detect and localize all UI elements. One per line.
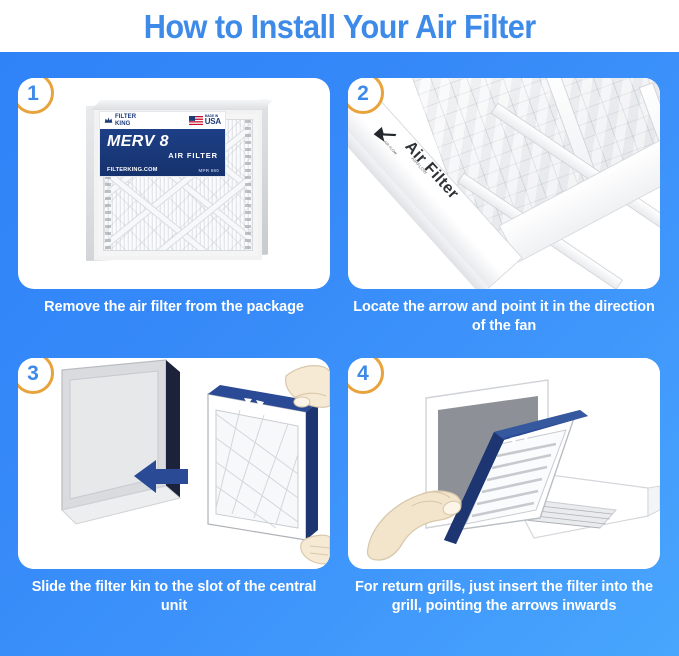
hand-bottom (301, 535, 330, 564)
filter-top-edge (91, 100, 272, 110)
hand-holding-filter (367, 491, 462, 560)
steps-canvas: 1 (0, 52, 679, 656)
steps-grid: 1 (0, 52, 679, 656)
step-1-illustration: FILTER KING (18, 78, 330, 289)
infographic-page: How to Install Your Air Filter 1 (0, 0, 679, 656)
product-label-body: MERV 8 AIR FILTER FILTERKING.COM MPR 650 (100, 129, 225, 176)
step-3-illustration (18, 358, 330, 569)
country-label: USA (205, 118, 221, 126)
step-3-image-card: 3 (18, 358, 330, 569)
step-4-illustration (348, 358, 660, 569)
brand-line-1: FILTER (115, 114, 136, 120)
central-unit-slot (62, 360, 180, 524)
page-header: How to Install Your Air Filter (0, 0, 679, 52)
step-card-3: 3 (18, 358, 330, 615)
new-filter-panel (208, 385, 318, 540)
brand-lockup: FILTER KING (104, 114, 136, 126)
product-label-footer: FILTERKING.COM MPR 650 (107, 167, 219, 173)
crown-icon (104, 116, 113, 125)
product-label: FILTER KING (100, 112, 225, 176)
merv-rating: MERV 8 (107, 134, 218, 150)
made-in-usa-text: MADE IN USA (205, 115, 221, 126)
product-type: AIR FILTER (107, 151, 218, 160)
filter-slide-into-unit-drawing (18, 358, 330, 569)
step-card-2: 2 (348, 78, 660, 335)
brand-line-2: KING (115, 121, 136, 127)
step-caption-2: Locate the arrow and point it in the dir… (348, 298, 660, 335)
mpr-rating: MPR 650 (198, 168, 219, 173)
step-caption-4: For return grills, just insert the filte… (348, 578, 660, 615)
step-card-1: 1 (18, 78, 330, 317)
brand-website: FILTERKING.COM (107, 167, 158, 173)
step-caption-3: Slide the filter kin to the slot of the … (18, 578, 330, 615)
step-2-image-card: 2 (348, 78, 660, 289)
product-label-header: FILTER KING (100, 112, 225, 129)
filter-into-return-grill-drawing (348, 358, 660, 569)
step-4-image-card: 4 (348, 358, 660, 569)
step-2-illustration: AIR FLOW Air Filter AIRFLOW (348, 78, 660, 289)
step-1-image-card: 1 (18, 78, 330, 289)
page-title: How to Install Your Air Filter (144, 10, 536, 43)
brand-name: FILTER KING (115, 114, 136, 126)
made-in-usa-badge: MADE IN USA (189, 115, 221, 126)
usa-flag-icon (189, 116, 203, 125)
step-caption-1: Remove the air filter from the package (18, 298, 330, 317)
step-card-4: 4 (348, 358, 660, 615)
